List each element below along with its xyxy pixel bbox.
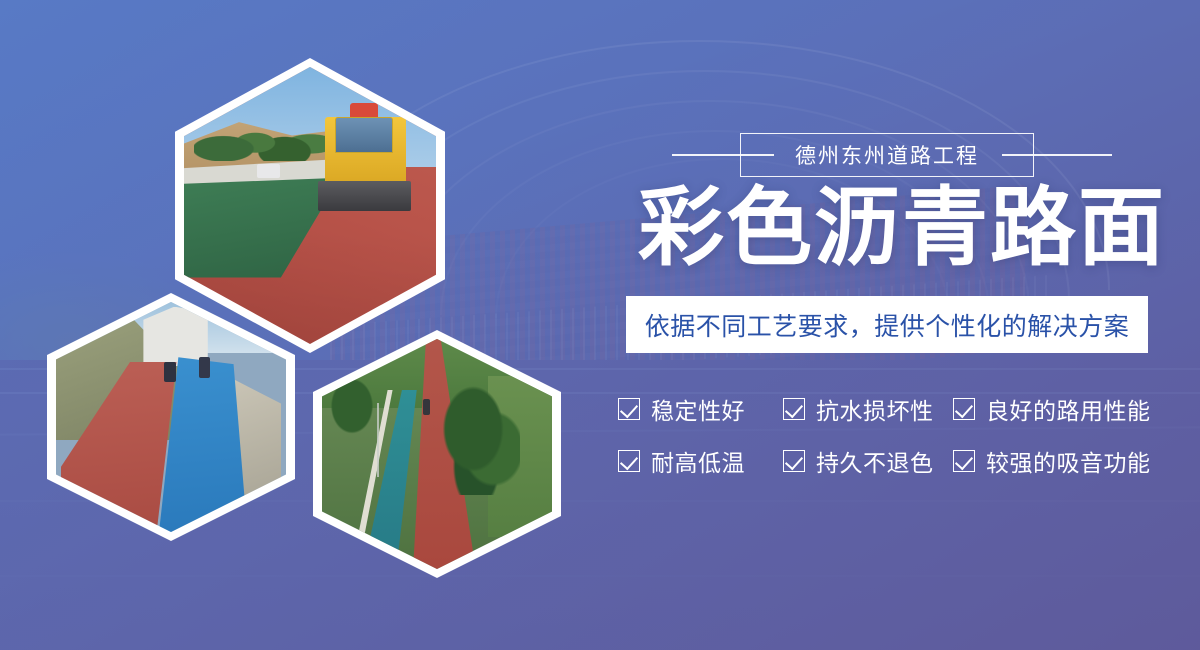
feature-item: 持久不退色 [783, 444, 953, 478]
company-name: 德州东州道路工程 [795, 140, 979, 170]
check-icon [618, 398, 640, 420]
kicker-rule-right [1002, 154, 1112, 156]
feature-item: 耐高低温 [618, 444, 783, 478]
feature-row: 稳定性好 抗水损坏性 良好的路用性能 [618, 392, 1178, 426]
feature-item: 良好的路用性能 [953, 392, 1151, 426]
kicker-group: 德州东州道路工程 [672, 133, 1112, 177]
photo-greenway-path [322, 339, 552, 569]
feature-list: 稳定性好 抗水损坏性 良好的路用性能 耐高低温 持久不退色 较强的吸音 [618, 392, 1178, 496]
feature-item: 抗水损坏性 [783, 392, 953, 426]
feature-label: 抗水损坏性 [816, 392, 934, 426]
feature-label: 较强的吸音功能 [986, 444, 1151, 478]
hexagon-photo-inner [184, 67, 436, 344]
check-icon [783, 450, 805, 472]
subtitle-bar: 依据不同工艺要求，提供个性化的解决方案 [626, 296, 1148, 353]
feature-item: 较强的吸音功能 [953, 444, 1151, 478]
feature-label: 持久不退色 [816, 444, 934, 478]
feature-label: 稳定性好 [651, 392, 745, 426]
hexagon-photo-inner [56, 302, 286, 532]
check-icon [618, 450, 640, 472]
promo-banner: 德州东州道路工程 彩色沥青路面 依据不同工艺要求，提供个性化的解决方案 稳定性好… [0, 0, 1200, 650]
photo-roller-on-red-asphalt [184, 67, 436, 344]
feature-label: 耐高低温 [651, 444, 745, 478]
feature-item: 稳定性好 [618, 392, 783, 426]
check-icon [783, 398, 805, 420]
hexagon-photo-inner [322, 339, 552, 569]
kicker-box: 德州东州道路工程 [740, 133, 1034, 177]
check-icon [953, 398, 975, 420]
page-title: 彩色沥青路面 [638, 185, 1166, 271]
subtitle-text: 依据不同工艺要求，提供个性化的解决方案 [645, 307, 1130, 343]
feature-label: 良好的路用性能 [986, 392, 1151, 426]
check-icon [953, 450, 975, 472]
feature-row: 耐高低温 持久不退色 较强的吸音功能 [618, 444, 1178, 478]
photo-red-and-blue-road [56, 302, 286, 532]
